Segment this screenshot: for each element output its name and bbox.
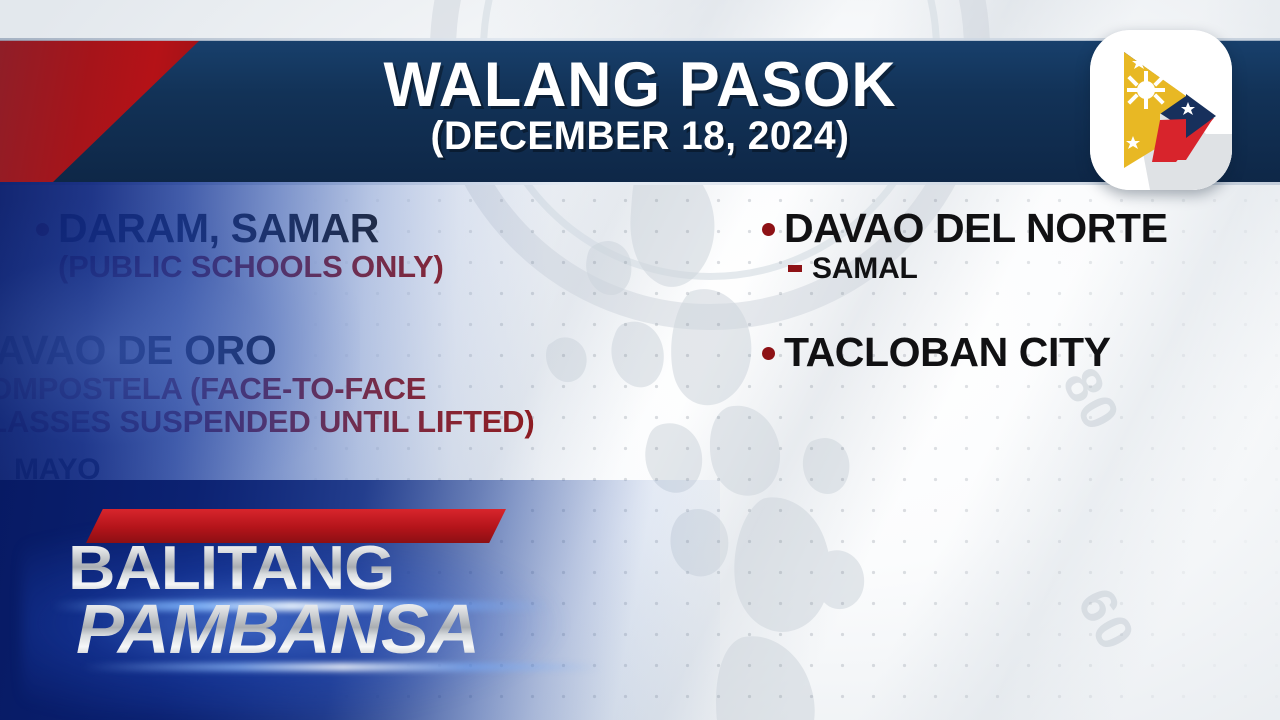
list-item: TACLOBAN CITY: [762, 330, 1280, 374]
entry-main-line: DARAM, SAMAR: [36, 206, 676, 250]
place-name: TACLOBAN CITY: [784, 330, 1111, 374]
entry-main-line: DAVAO DE ORO: [0, 328, 676, 372]
entry-main-line: DAVAO DEL NORTE: [762, 206, 1280, 250]
list-item: DAVAO DE ORO COMPOSTELA (FACE-TO-FACE CL…: [0, 328, 676, 487]
logo-blue-streak-bottom: [82, 663, 602, 671]
list-item: DARAM, SAMAR (PUBLIC SCHOOLS ONLY): [36, 206, 676, 284]
ptv-logo: [1090, 30, 1232, 190]
place-note-line-2: CLASSES SUSPENDED UNTIL LIFTED): [0, 405, 676, 438]
left-column: DARAM, SAMAR (PUBLIC SCHOOLS ONLY) DAVAO…: [36, 206, 676, 497]
bullet-dot-icon: [762, 347, 775, 360]
place-name: DARAM, SAMAR: [58, 206, 379, 250]
bullet-dot-icon: [36, 223, 49, 236]
place-note: (PUBLIC SCHOOLS ONLY): [36, 250, 676, 283]
place-note-line-1: COMPOSTELA (FACE-TO-FACE: [0, 372, 676, 405]
header-text-block: WALANG PASOK (DECEMBER 18, 2024): [0, 48, 1280, 157]
place-name: DAVAO DEL NORTE: [784, 206, 1168, 250]
logo-word-pambansa: PAMBANSA: [76, 589, 479, 669]
broadcast-lower-third-screen: 80 60 WALANG PASOK (DE: [0, 0, 1280, 720]
page-subtitle-date: (DECEMBER 18, 2024): [19, 115, 1261, 157]
header-top-edge-line: [0, 38, 1280, 41]
balitang-pambansa-logo: BALITANG PAMBANSA: [62, 503, 532, 678]
sub-place-name: SAMAL: [812, 252, 918, 286]
bullet-dot-icon: [762, 223, 775, 236]
right-column: DAVAO DEL NORTE SAMAL TACLOBAN CITY: [762, 206, 1280, 385]
place-note-line-3: MAYO: [0, 453, 676, 487]
page-title: WALANG PASOK: [19, 53, 1261, 117]
list-item: DAVAO DEL NORTE SAMAL: [762, 206, 1280, 286]
entry-main-line: TACLOBAN CITY: [762, 330, 1280, 374]
sub-list-item: SAMAL: [762, 252, 1280, 286]
dash-bullet-icon: [788, 265, 802, 272]
place-name: DAVAO DE ORO: [0, 328, 276, 372]
